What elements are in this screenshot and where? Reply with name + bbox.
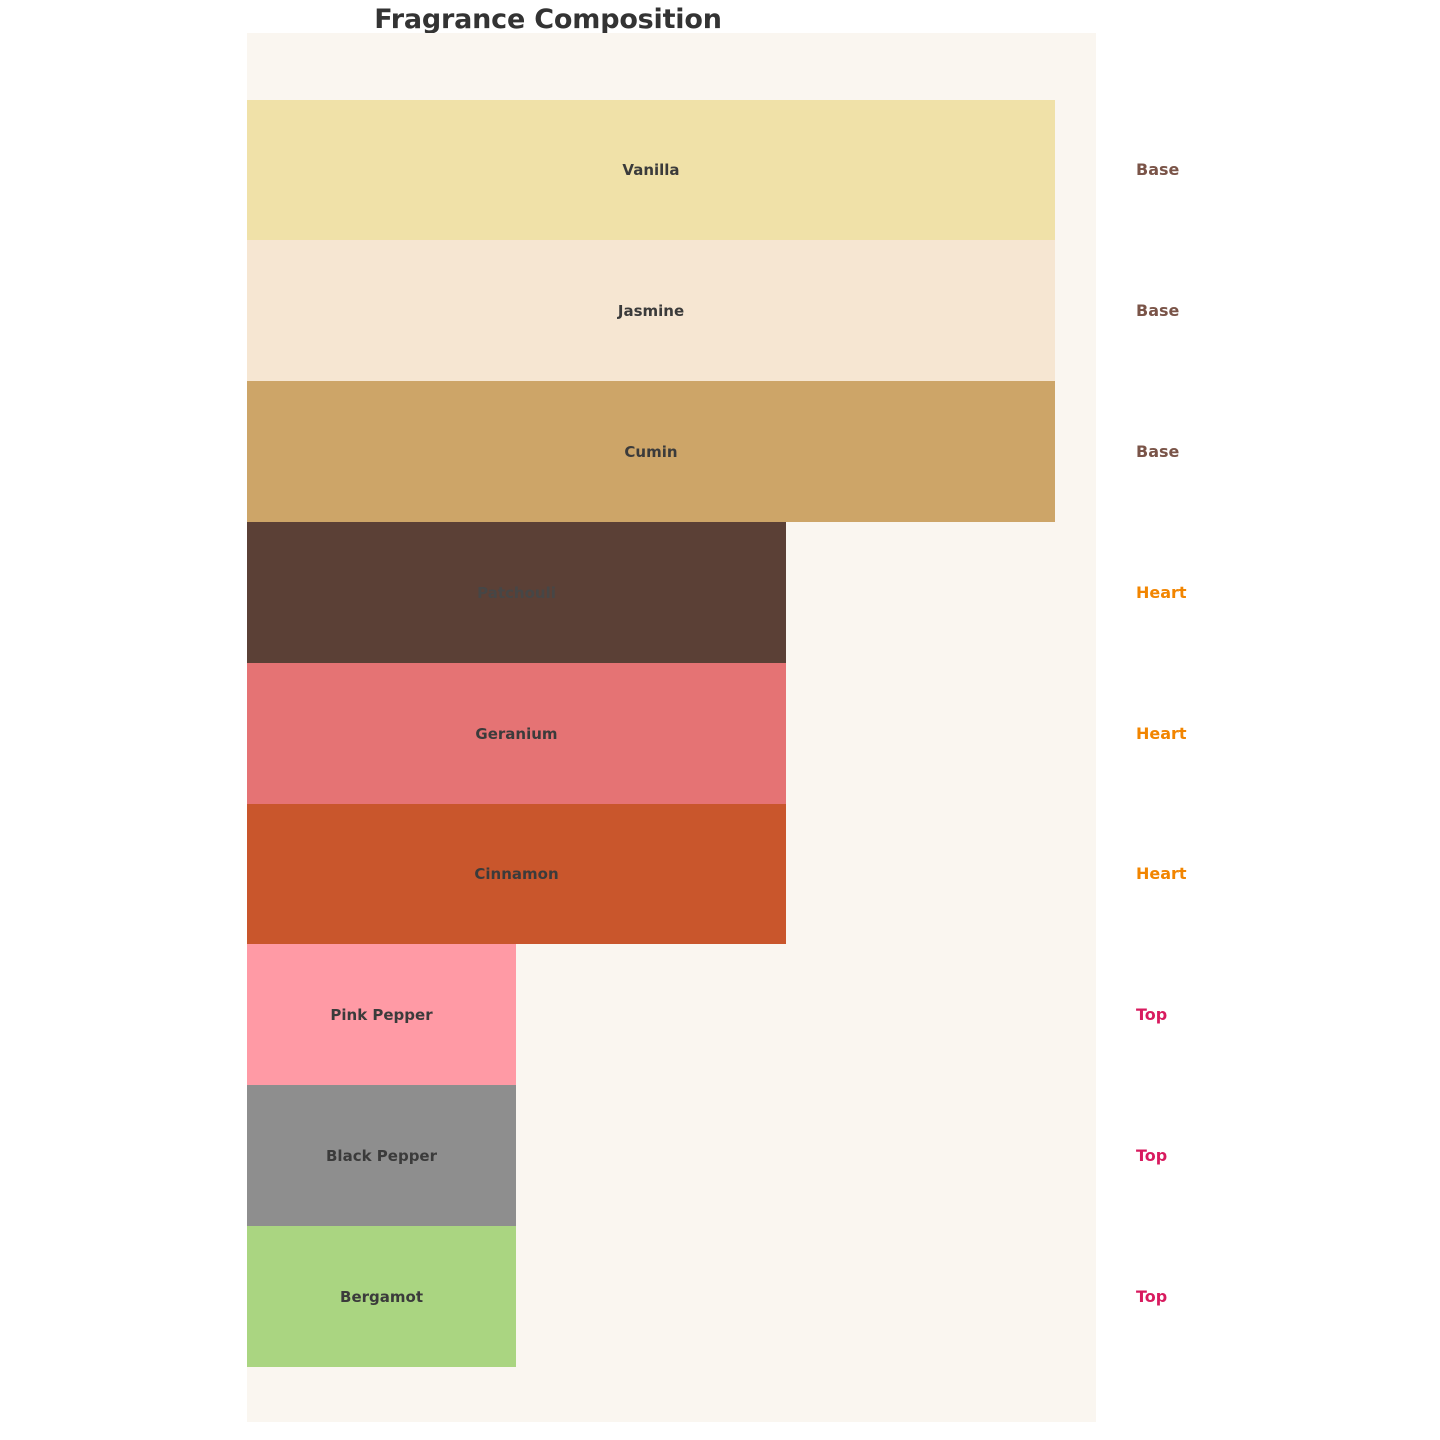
bar-jasmine[interactable]: [247, 240, 1055, 381]
category-label-base-0: Base: [1136, 160, 1179, 179]
category-label-heart-3: Heart: [1136, 583, 1187, 602]
bar-row: Black Pepper: [247, 1085, 1096, 1226]
bar-row: Patchouli: [247, 522, 1096, 663]
category-label-base-2: Base: [1136, 442, 1179, 461]
bar-row: Bergamot: [247, 1226, 1096, 1367]
bar-bergamot[interactable]: [247, 1226, 516, 1367]
bar-pink-pepper[interactable]: [247, 944, 516, 1085]
bar-black-pepper[interactable]: [247, 1085, 516, 1226]
bar-geranium[interactable]: [247, 663, 786, 804]
bar-cumin[interactable]: [247, 381, 1055, 522]
category-label-heart-5: Heart: [1136, 864, 1187, 883]
page-title: Fragrance Composition: [0, 4, 1096, 35]
bar-row: Cinnamon: [247, 804, 1096, 944]
bar-row: Cumin: [247, 381, 1096, 522]
bar-row: Pink Pepper: [247, 944, 1096, 1085]
category-label-top-8: Top: [1136, 1287, 1167, 1306]
bar-row: Jasmine: [247, 240, 1096, 381]
category-label-top-6: Top: [1136, 1005, 1167, 1024]
plot-area: VanillaJasmineCuminPatchouliGeraniumCinn…: [247, 33, 1096, 1422]
fragrance-composition-figure: Fragrance Composition VanillaJasmineCumi…: [0, 0, 1440, 1440]
bar-row: Vanilla: [247, 100, 1096, 240]
bar-row: Geranium: [247, 663, 1096, 804]
category-label-top-7: Top: [1136, 1146, 1167, 1165]
bar-patchouli[interactable]: [247, 522, 786, 663]
bar-cinnamon[interactable]: [247, 804, 786, 944]
category-label-heart-4: Heart: [1136, 724, 1187, 743]
bar-vanilla[interactable]: [247, 100, 1055, 240]
category-label-base-1: Base: [1136, 301, 1179, 320]
